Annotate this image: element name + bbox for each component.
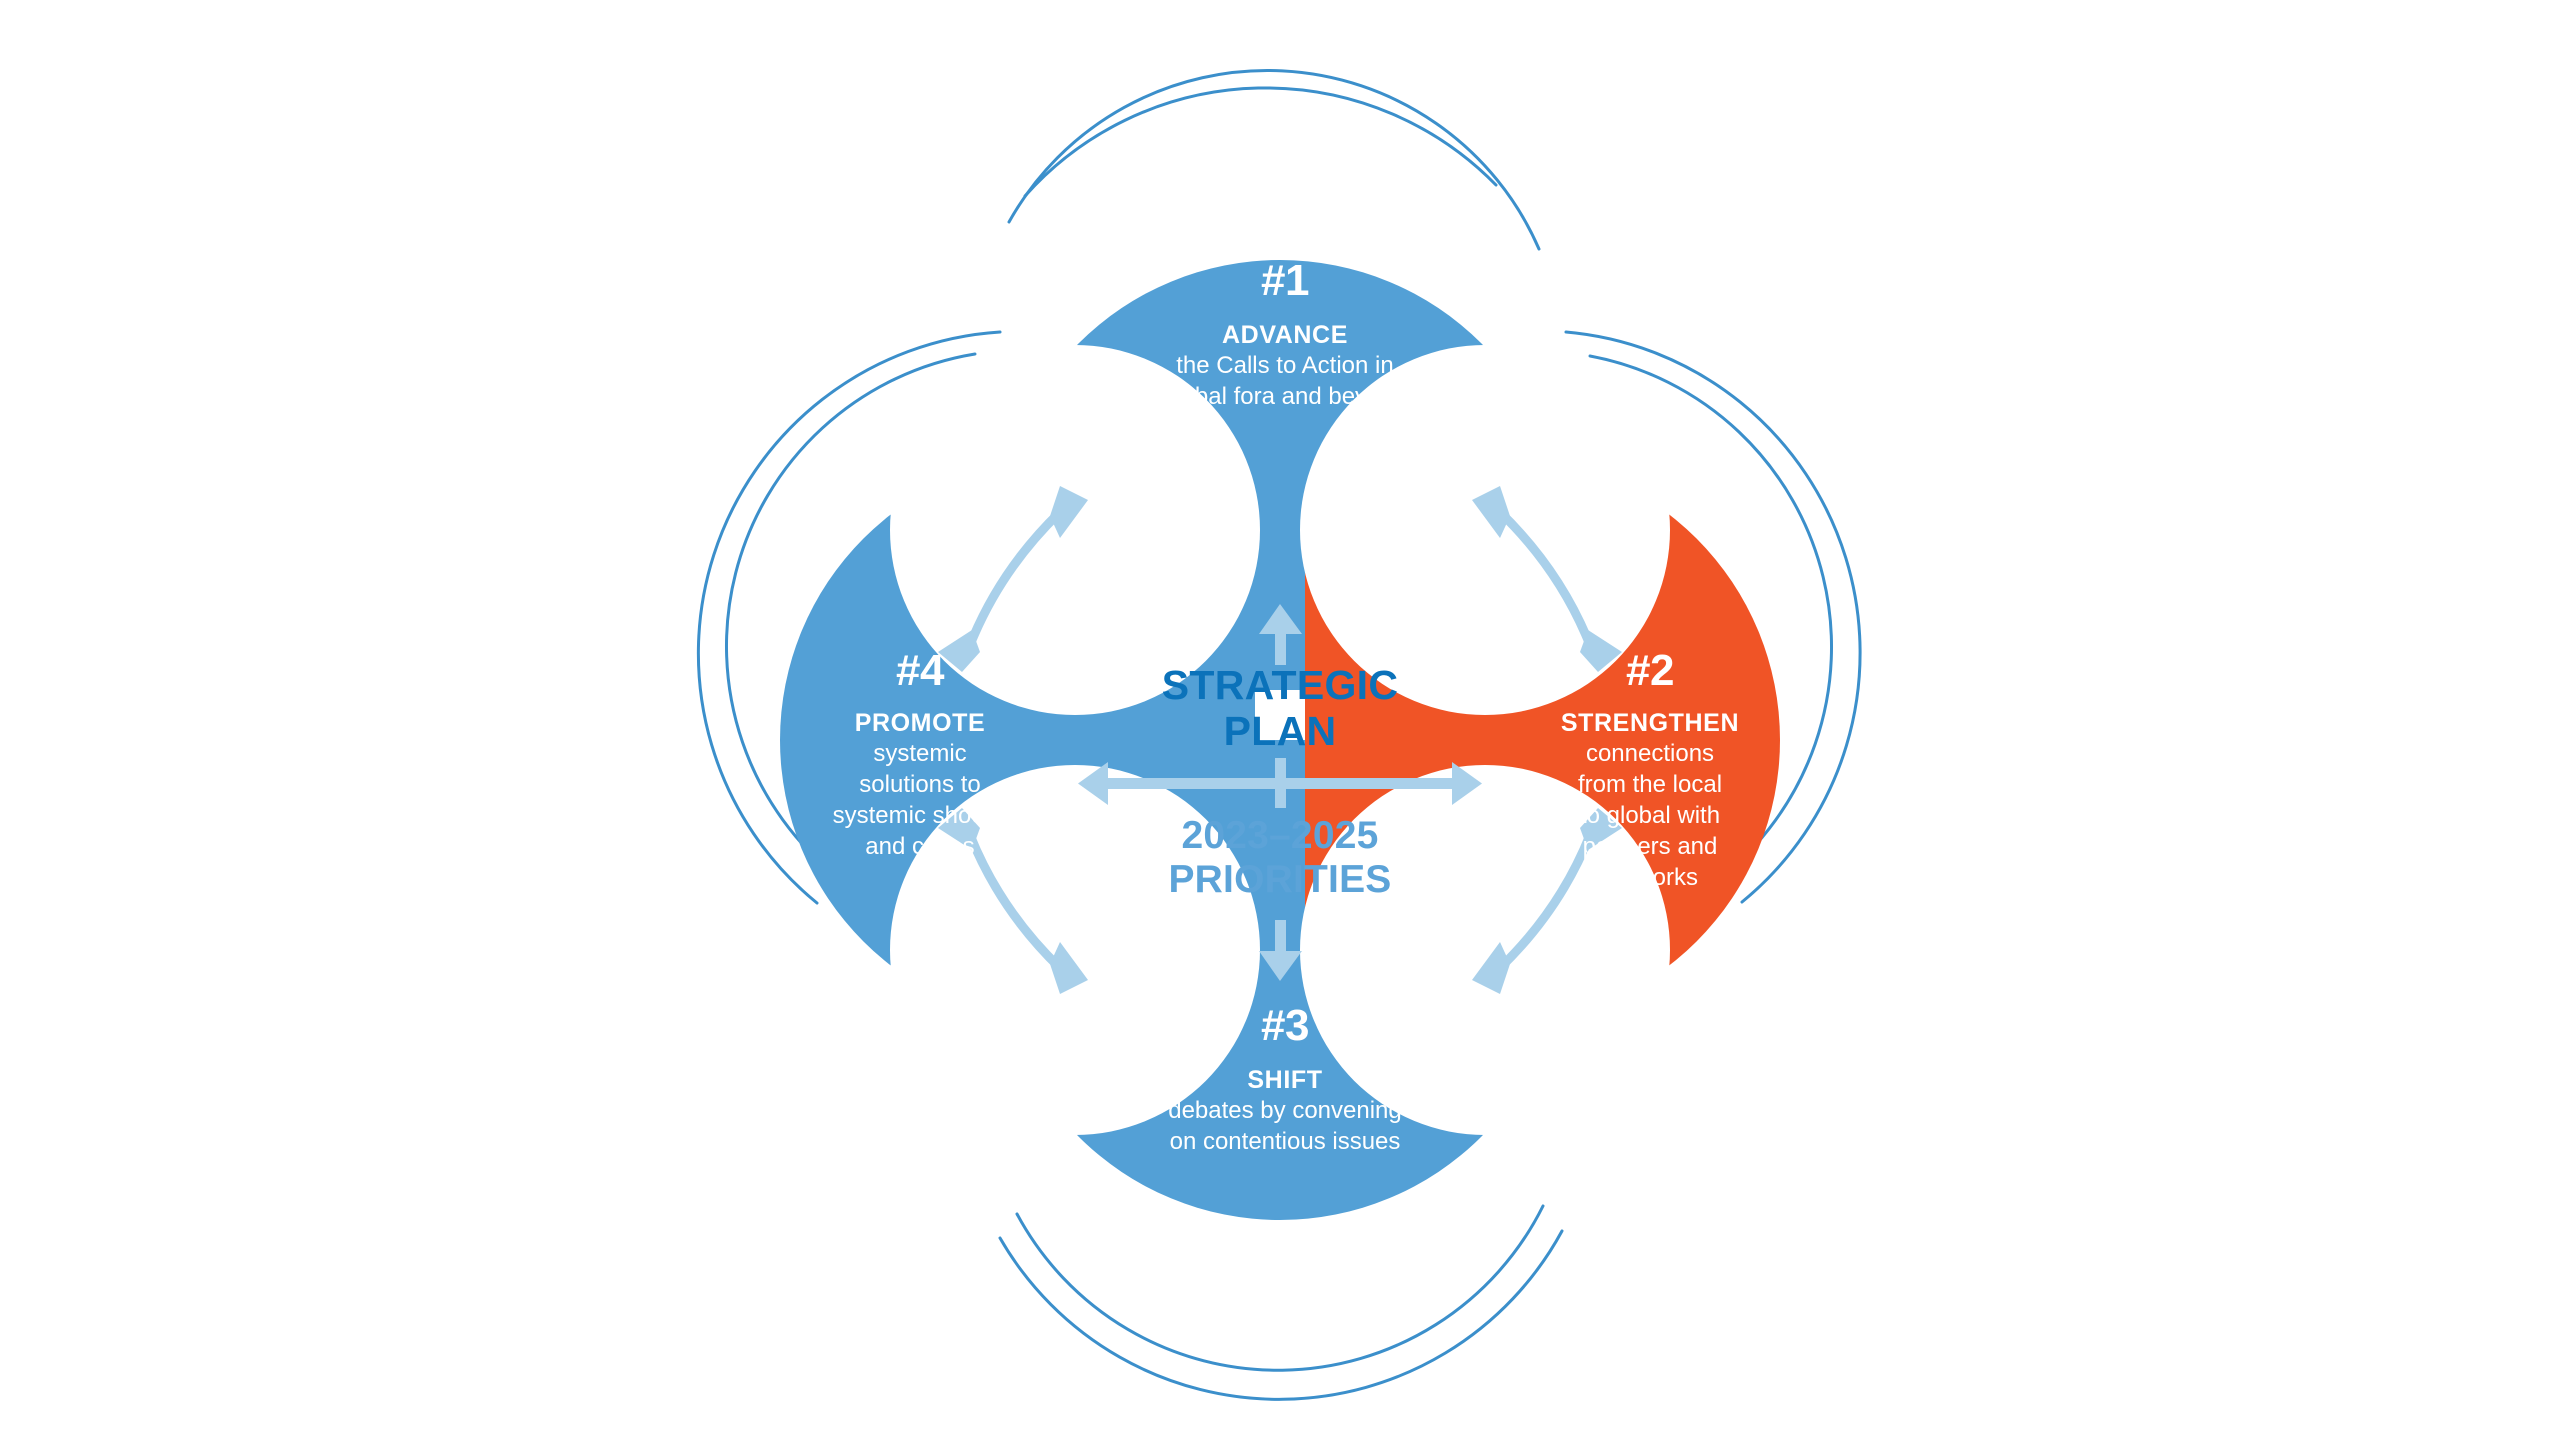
arc-bottom-inner [1000, 1231, 1562, 1399]
strategic-plan-quatrefoil-diagram [0, 0, 2560, 1441]
cutout-bottom-left [890, 765, 1260, 1135]
cutout-top-right [1300, 345, 1670, 715]
diagram-canvas: #1 ADVANCE the Calls to Action in global… [0, 0, 2560, 1441]
arc-bottom-outer [1017, 1206, 1543, 1370]
arc-top-outer [1009, 71, 1539, 249]
cutout-top-left [890, 345, 1260, 715]
arc-top-inner [1025, 88, 1496, 196]
cutout-bottom-right [1300, 765, 1670, 1135]
